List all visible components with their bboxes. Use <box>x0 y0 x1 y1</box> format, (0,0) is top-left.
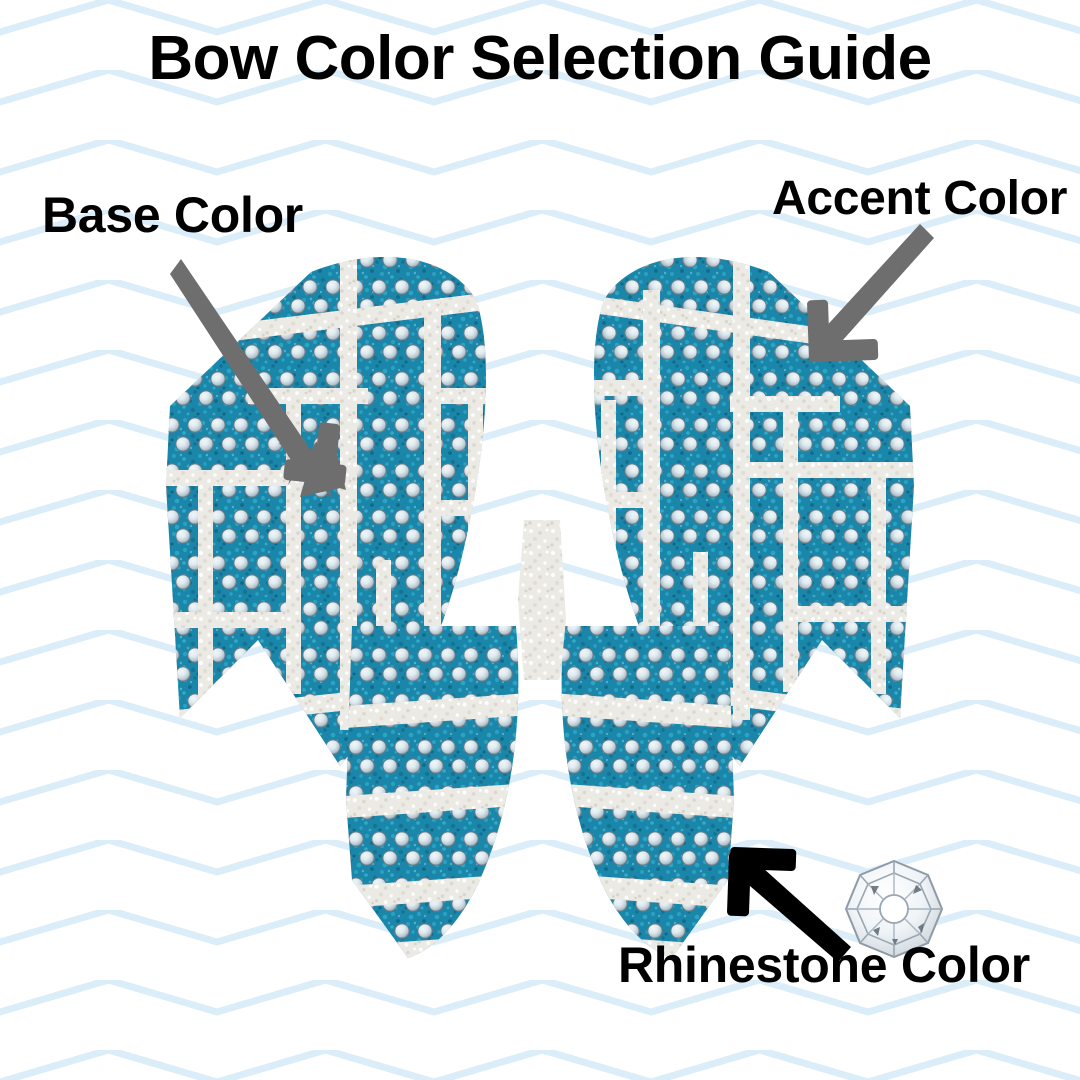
page-title: Bow Color Selection Guide <box>0 26 1080 91</box>
guide-canvas: Bow Color Selection Guide <box>0 0 1080 1080</box>
label-base-color: Base Color <box>42 190 303 240</box>
base-color-arrow <box>170 259 354 509</box>
accent-color-arrow <box>807 224 934 362</box>
label-accent-color: Accent Color <box>772 175 1067 223</box>
label-rhinestone-color: Rhinestone Color <box>618 940 1030 990</box>
